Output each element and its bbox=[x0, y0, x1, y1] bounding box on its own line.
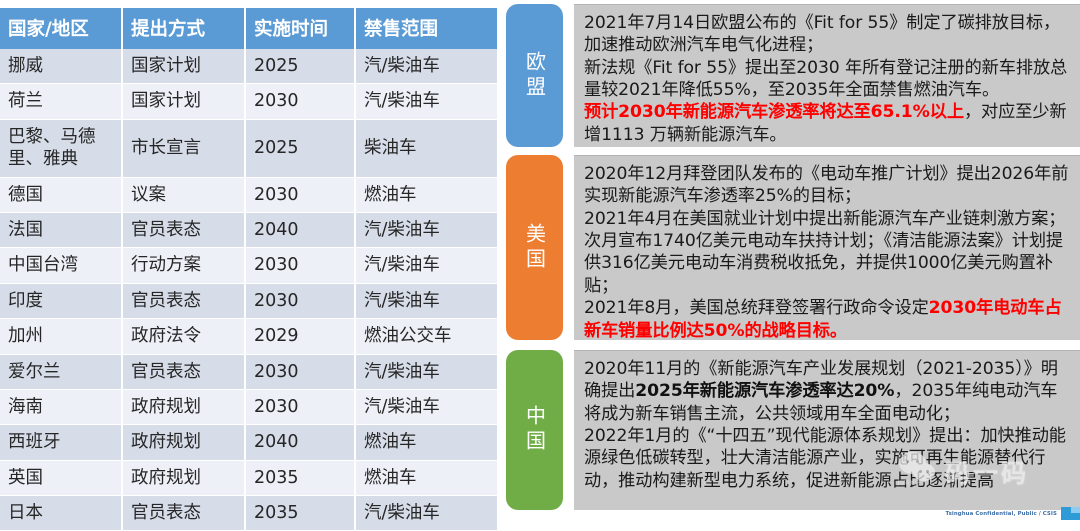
cell-scope: 汽/柴油车 bbox=[355, 283, 497, 318]
column-header-scope: 禁售范围 bbox=[355, 8, 497, 49]
cell-scope: 燃油车 bbox=[355, 177, 497, 212]
table-row: 加州政府法令2029燃油公交车 bbox=[0, 319, 497, 354]
cell-scope: 汽/柴油车 bbox=[355, 248, 497, 283]
region-block-cn: 中国 2020年11月的《新能源汽车产业发展规划（2021-2035）》明确提出… bbox=[497, 350, 1080, 510]
cell-region: 法国 bbox=[0, 212, 122, 247]
body-text: 2021年4月在美国就业计划中提出新能源汽车产业链刺激方案；次月宣布1740亿美… bbox=[584, 209, 1065, 296]
cell-scope: 汽/柴油车 bbox=[355, 49, 497, 84]
region-paragraph: 新法规《Fit for 55》提出至2030 年所有登记注册的新车排放总量较20… bbox=[584, 57, 1071, 102]
cell-time: 2030 bbox=[245, 354, 355, 389]
cell-region: 爱尔兰 bbox=[0, 354, 122, 389]
cell-region: 海南 bbox=[0, 389, 122, 424]
cell-method: 国家计划 bbox=[122, 84, 245, 119]
cell-method: 政府规划 bbox=[122, 389, 245, 424]
cell-time: 2040 bbox=[245, 425, 355, 460]
region-paragraph: 2021年8月，美国总统拜登签署行政命令设定2030年电动车占新车销量比例达50… bbox=[584, 297, 1071, 340]
slide-footer: Tsinghua Confidential, Public / CSIS bbox=[948, 506, 1080, 521]
cell-method: 国家计划 bbox=[122, 49, 245, 84]
region-policy-panel: 欧盟 2021年7月14日欧盟公布的《Fit for 55》制定了碳排放目标，加… bbox=[497, 0, 1080, 521]
table-row: 爱尔兰官员表态2030汽/柴油车 bbox=[0, 354, 497, 389]
cell-time: 2030 bbox=[245, 389, 355, 424]
table-row: 中国台湾行动方案2030汽/柴油车 bbox=[0, 248, 497, 283]
region-paragraph: 2022年1月的《“十四五”现代能源体系规划》提出：加快推动能源绿色低碳转型，壮… bbox=[584, 425, 1071, 492]
region-body-us: 2020年12月拜登团队发布的《电动车推广计划》提出2026年前实现新能源汽车渗… bbox=[574, 155, 1080, 340]
cell-scope: 柴油车 bbox=[355, 119, 497, 177]
cell-region: 西班牙 bbox=[0, 425, 122, 460]
body-text: 新法规《Fit for 55》提出至2030 年所有登记注册的新车排放总量较20… bbox=[584, 58, 1067, 100]
cell-region: 荷兰 bbox=[0, 84, 122, 119]
table-row: 英国政府规划2035燃油车 bbox=[0, 460, 497, 495]
cell-region: 德国 bbox=[0, 177, 122, 212]
region-tab-label-eu: 欧盟 bbox=[525, 51, 545, 101]
cell-time: 2029 bbox=[245, 319, 355, 354]
region-paragraph: 2021年7月14日欧盟公布的《Fit for 55》制定了碳排放目标，加速推动… bbox=[584, 12, 1071, 57]
cell-scope: 汽/柴油车 bbox=[355, 212, 497, 247]
table-body: 挪威国家计划2025汽/柴油车荷兰国家计划2030汽/柴油车巴黎、马德里、雅典市… bbox=[0, 49, 497, 531]
cell-time: 2025 bbox=[245, 49, 355, 84]
cell-time: 2030 bbox=[245, 177, 355, 212]
table-row: 日本官员表态2035汽/柴油车 bbox=[0, 496, 497, 531]
cell-method: 政府规划 bbox=[122, 425, 245, 460]
cell-region: 巴黎、马德里、雅典 bbox=[0, 119, 122, 177]
cell-scope: 汽/柴油车 bbox=[355, 354, 497, 389]
table-row: 西班牙政府规划2040燃油车 bbox=[0, 425, 497, 460]
cell-scope: 汽/柴油车 bbox=[355, 389, 497, 424]
cell-method: 市长宣言 bbox=[122, 119, 245, 177]
cell-region: 印度 bbox=[0, 283, 122, 318]
table-row: 德国议案2030燃油车 bbox=[0, 177, 497, 212]
body-text: 2021年7月14日欧盟公布的《Fit for 55》制定了碳排放目标，加速推动… bbox=[584, 13, 1060, 55]
footer-confidentiality-text: Tsinghua Confidential, Public / CSIS bbox=[946, 511, 1057, 517]
cell-scope: 汽/柴油车 bbox=[355, 496, 497, 531]
cell-time: 2035 bbox=[245, 496, 355, 531]
cell-region: 日本 bbox=[0, 496, 122, 531]
table-row: 法国官员表态2040汽/柴油车 bbox=[0, 212, 497, 247]
policy-table-panel: 国家/地区 提出方式 实施时间 禁售范围 挪威国家计划2025汽/柴油车荷兰国家… bbox=[0, 0, 497, 521]
cell-time: 2030 bbox=[245, 248, 355, 283]
region-tab-label-cn: 中国 bbox=[525, 405, 545, 455]
cell-time: 2030 bbox=[245, 84, 355, 119]
column-header-time: 实施时间 bbox=[245, 8, 355, 49]
region-block-eu: 欧盟 2021年7月14日欧盟公布的《Fit for 55》制定了碳排放目标，加… bbox=[497, 4, 1080, 147]
cell-time: 2035 bbox=[245, 460, 355, 495]
region-body-cn: 2020年11月的《新能源汽车产业发展规划（2021-2035）》明确提出202… bbox=[574, 350, 1080, 510]
region-block-us: 美国 2020年12月拜登团队发布的《电动车推广计划》提出2026年前实现新能源… bbox=[497, 155, 1080, 340]
cell-method: 政府规划 bbox=[122, 460, 245, 495]
cell-scope: 燃油车 bbox=[355, 425, 497, 460]
cell-method: 行动方案 bbox=[122, 248, 245, 283]
cell-method: 官员表态 bbox=[122, 496, 245, 531]
cell-region: 加州 bbox=[0, 319, 122, 354]
cell-time: 2025 bbox=[245, 119, 355, 177]
cell-method: 官员表态 bbox=[122, 212, 245, 247]
cell-method: 议案 bbox=[122, 177, 245, 212]
cell-region: 挪威 bbox=[0, 49, 122, 84]
region-body-eu: 2021年7月14日欧盟公布的《Fit for 55》制定了碳排放目标，加速推动… bbox=[574, 4, 1080, 147]
cell-time: 2030 bbox=[245, 283, 355, 318]
region-paragraph: 2020年11月的《新能源汽车产业发展规划（2021-2035）》明确提出202… bbox=[584, 358, 1071, 425]
region-tab-eu: 欧盟 bbox=[506, 4, 563, 147]
region-tab-label-us: 美国 bbox=[525, 223, 545, 273]
slide-root: 国家/地区 提出方式 实施时间 禁售范围 挪威国家计划2025汽/柴油车荷兰国家… bbox=[0, 0, 1080, 521]
body-text: 2021年8月，美国总统拜登签署行政命令设定 bbox=[584, 298, 929, 318]
cell-region: 中国台湾 bbox=[0, 248, 122, 283]
region-paragraph: 预计2030年新能源汽车渗透率将达至65.1%以上，对应至少新增1113 万辆新… bbox=[584, 101, 1071, 146]
column-header-region: 国家/地区 bbox=[0, 8, 122, 49]
column-header-method: 提出方式 bbox=[122, 8, 245, 49]
table-header-row: 国家/地区 提出方式 实施时间 禁售范围 bbox=[0, 8, 497, 49]
cell-method: 政府法令 bbox=[122, 319, 245, 354]
company-logo-icon bbox=[1061, 507, 1080, 520]
body-text: 2020年12月拜登团队发布的《电动车推广计划》提出2026年前实现新能源汽车渗… bbox=[584, 164, 1068, 206]
cell-scope: 燃油公交车 bbox=[355, 319, 497, 354]
highlighted-bold-text: 2025年新能源汽车渗透率达20% bbox=[635, 381, 894, 401]
table-row: 荷兰国家计划2030汽/柴油车 bbox=[0, 84, 497, 119]
cell-scope: 燃油车 bbox=[355, 460, 497, 495]
table-row: 印度官员表态2030汽/柴油车 bbox=[0, 283, 497, 318]
region-paragraph: 2021年4月在美国就业计划中提出新能源汽车产业链刺激方案；次月宣布1740亿美… bbox=[584, 208, 1071, 297]
cell-time: 2040 bbox=[245, 212, 355, 247]
table-header: 国家/地区 提出方式 实施时间 禁售范围 bbox=[0, 8, 497, 49]
region-tab-us: 美国 bbox=[506, 155, 563, 340]
ban-policy-table: 国家/地区 提出方式 实施时间 禁售范围 挪威国家计划2025汽/柴油车荷兰国家… bbox=[0, 8, 497, 531]
table-row: 海南政府规划2030汽/柴油车 bbox=[0, 389, 497, 424]
body-text: 2022年1月的《“十四五”现代能源体系规划》提出：加快推动能源绿色低碳转型，壮… bbox=[584, 426, 1066, 491]
table-row: 挪威国家计划2025汽/柴油车 bbox=[0, 49, 497, 84]
cell-method: 官员表态 bbox=[122, 283, 245, 318]
cell-scope: 汽/柴油车 bbox=[355, 84, 497, 119]
cell-method: 官员表态 bbox=[122, 354, 245, 389]
table-row: 巴黎、马德里、雅典市长宣言2025柴油车 bbox=[0, 119, 497, 177]
region-paragraph: 2020年12月拜登团队发布的《电动车推广计划》提出2026年前实现新能源汽车渗… bbox=[584, 163, 1071, 208]
cell-region: 英国 bbox=[0, 460, 122, 495]
region-tab-cn: 中国 bbox=[506, 350, 563, 510]
highlighted-red-text: 预计2030年新能源汽车渗透率将达至65.1%以上 bbox=[584, 102, 964, 122]
